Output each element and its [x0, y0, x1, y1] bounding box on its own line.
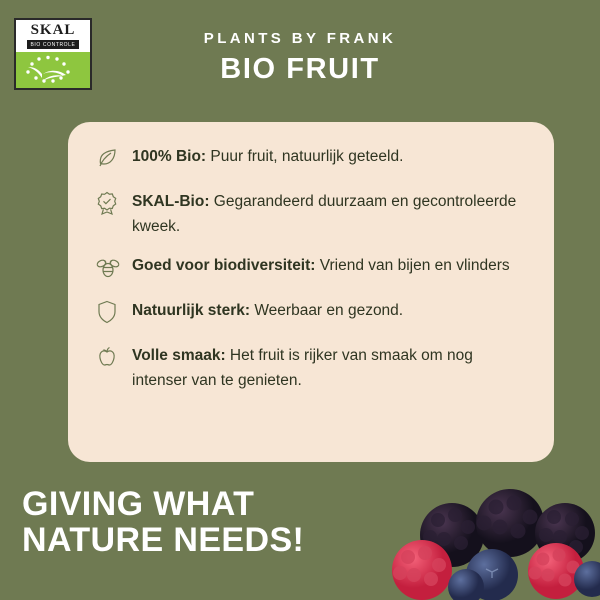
feature-text: Volle smaak: Het fruit is rijker van sma…: [132, 343, 530, 393]
feature-text: Natuurlijk sterk: Weerbaar en gezond.: [132, 298, 403, 323]
slogan: GIVING WHAT NATURE NEEDS!: [22, 486, 304, 558]
feature-bold: SKAL-Bio:: [132, 193, 210, 210]
certificate-check-icon: [90, 189, 124, 220]
feature-item: Goed voor biodiversiteit: Vriend van bij…: [90, 253, 530, 284]
feature-bold: Volle smaak:: [132, 347, 226, 364]
feature-text: 100% Bio: Puur fruit, natuurlijk geteeld…: [132, 144, 403, 169]
header: PLANTS BY FRANK BIO FRUIT: [0, 30, 600, 86]
feature-text: SKAL-Bio: Gegarandeerd duurzaam en gecon…: [132, 189, 530, 239]
feature-item: Volle smaak: Het fruit is rijker van sma…: [90, 343, 530, 393]
page-title: BIO FRUIT: [0, 53, 600, 86]
feature-text: Goed voor biodiversiteit: Vriend van bij…: [132, 253, 510, 278]
feature-body: Weerbaar en gezond.: [250, 302, 403, 319]
slogan-line-1: GIVING WHAT: [22, 486, 304, 522]
feature-body: Vriend van bijen en vlinders: [315, 257, 509, 274]
feature-bold: Goed voor biodiversiteit:: [132, 257, 315, 274]
shield-icon: [90, 298, 124, 329]
feature-item: 100% Bio: Puur fruit, natuurlijk geteeld…: [90, 144, 530, 175]
features-card: 100% Bio: Puur fruit, natuurlijk geteeld…: [68, 122, 554, 462]
bee-icon: [90, 253, 124, 284]
feature-body: Puur fruit, natuurlijk geteeld.: [206, 148, 403, 165]
brand-kicker: PLANTS BY FRANK: [0, 30, 600, 47]
leaf-icon: [90, 144, 124, 175]
slogan-line-2: NATURE NEEDS!: [22, 522, 304, 558]
feature-bold: Natuurlijk sterk:: [132, 302, 250, 319]
feature-item: SKAL-Bio: Gegarandeerd duurzaam en gecon…: [90, 189, 530, 239]
mixed-berries-photo: [360, 475, 600, 600]
apple-icon: [90, 343, 124, 374]
feature-item: Natuurlijk sterk: Weerbaar en gezond.: [90, 298, 530, 329]
feature-bold: 100% Bio:: [132, 148, 206, 165]
